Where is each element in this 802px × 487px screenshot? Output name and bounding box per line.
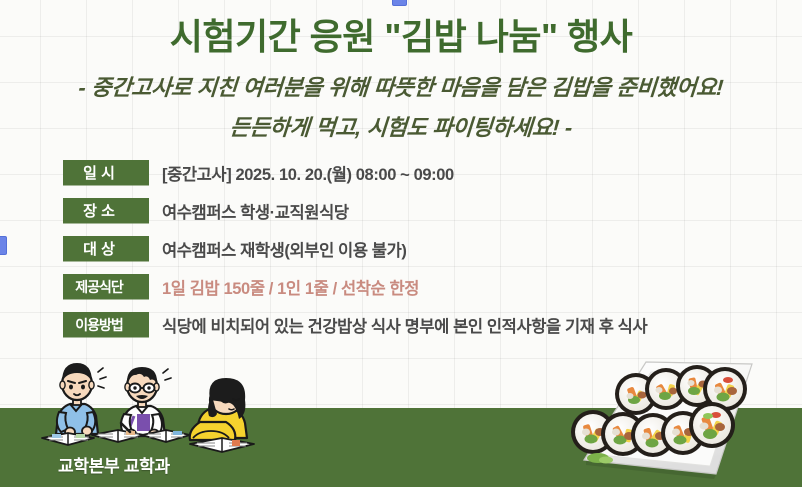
- info-row: 일 시 [중간고사] 2025. 10. 20.(월) 08:00 ~ 09:0…: [63, 158, 647, 187]
- info-row-label: 제공식단: [75, 277, 123, 297]
- gimbap-plate-photo: [520, 358, 788, 487]
- info-row: 이용방법 식당에 비치되어 있는 건강밥상 식사 명부에 본인 인적사항을 기재…: [63, 310, 647, 339]
- info-row-label: 대 상: [83, 238, 115, 259]
- info-row-list: 일 시 [중간고사] 2025. 10. 20.(월) 08:00 ~ 09:0…: [63, 158, 647, 348]
- info-row-label-banner: 이용방법: [63, 312, 149, 338]
- poster-subtitle-line-1: - 중간고사로 지친 여러분을 위해 따뜻한 마음을 담은 김밥을 준비했어요!: [0, 70, 802, 102]
- sweat-marks-blue: [98, 368, 106, 388]
- student-yellow-figure: [190, 378, 247, 440]
- info-row-value: [중간고사] 2025. 10. 20.(월) 08:00 ~ 09:00: [162, 161, 454, 185]
- student-blue-figure: [56, 363, 98, 437]
- info-row-value: 1일 김밥 150줄 / 1인 1줄 / 선착순 한정: [162, 275, 419, 299]
- info-row-label-banner: 일 시: [63, 160, 149, 186]
- students-studying-illustration: [30, 352, 320, 457]
- sweat-marks-white: [163, 369, 171, 380]
- poster-subtitle-line-2: 든든하게 먹고, 시험도 파이팅하세요! -: [0, 110, 802, 142]
- info-row-value: 여수캠퍼스 학생·교직원식당: [162, 199, 349, 223]
- info-row-label: 일 시: [83, 162, 115, 183]
- info-row-label-banner: 장 소: [63, 198, 149, 224]
- footer-department-label: 교학본부 교학과: [58, 452, 170, 477]
- info-row: 장 소 여수캠퍼스 학생·교직원식당: [63, 196, 647, 225]
- selection-handle-top[interactable]: [392, 0, 407, 6]
- info-row-label: 이용방법: [75, 315, 123, 335]
- info-row-value: 여수캠퍼스 재학생(외부인 이용 불가): [162, 237, 406, 261]
- poster-canvas: 시험기간 응원 "김밥 나눔" 행사 - 중간고사로 지친 여러분을 위해 따뜻…: [0, 0, 802, 487]
- poster-title: 시험기간 응원 "김밥 나눔" 행사: [0, 8, 802, 60]
- selection-handle-left[interactable]: [0, 236, 7, 255]
- info-row-value: 식당에 비치되어 있는 건강밥상 식사 명부에 본인 인적사항을 기재 후 식사: [162, 313, 647, 337]
- info-row: 대 상 여수캠퍼스 재학생(외부인 이용 불가): [63, 234, 647, 263]
- info-row-label-banner: 대 상: [63, 236, 149, 262]
- info-row-label: 장 소: [83, 200, 115, 221]
- student-white-figure: [121, 367, 165, 439]
- info-row-label-banner: 제공식단: [63, 274, 149, 300]
- info-row: 제공식단 1일 김밥 150줄 / 1인 1줄 / 선착순 한정: [63, 272, 647, 301]
